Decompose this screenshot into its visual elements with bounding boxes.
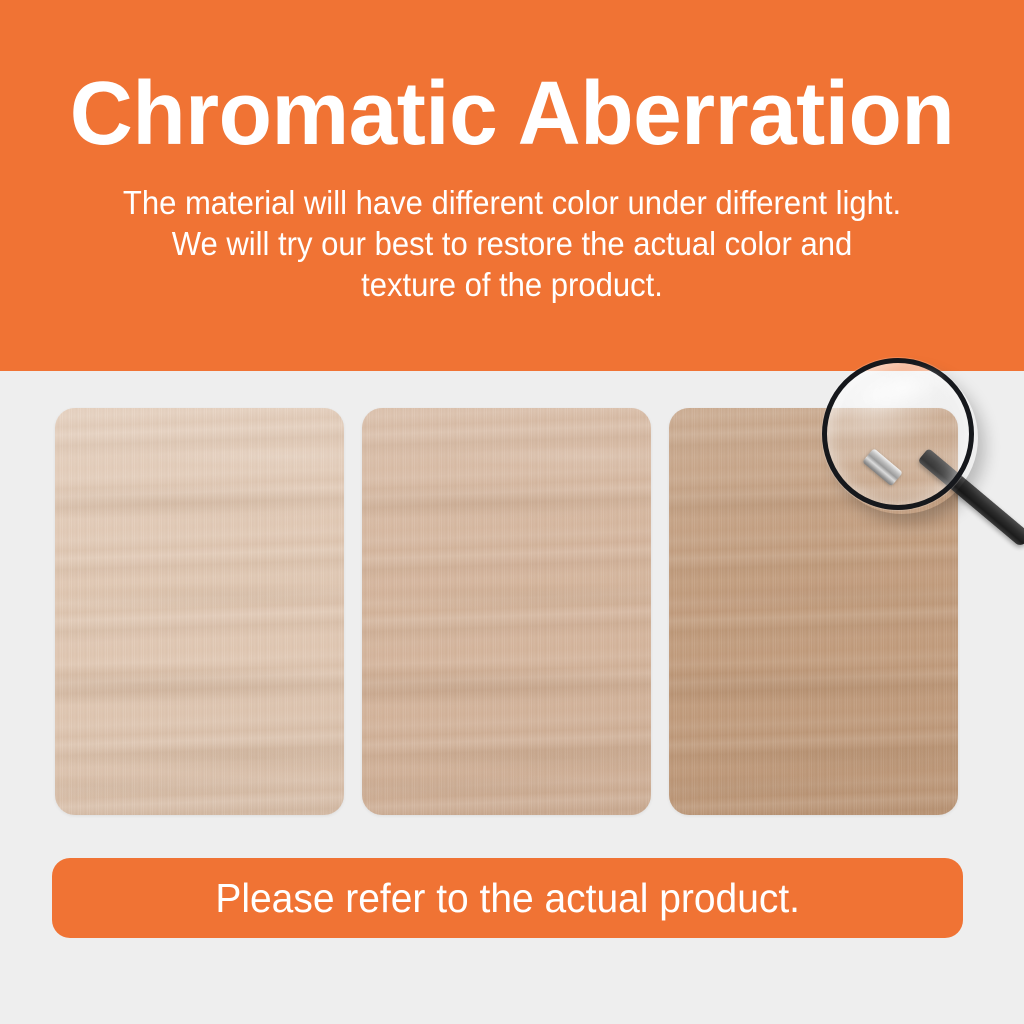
subtitle-line-1: The material will have different color u… (31, 182, 994, 223)
footer-banner: Please refer to the actual product. (52, 858, 963, 938)
header-banner: Chromatic Aberration The material will h… (0, 0, 1024, 371)
wood-sheen-overlay (55, 408, 344, 815)
header-subtitle: The material will have different color u… (31, 182, 994, 305)
wood-sample-panel-dark (669, 408, 958, 815)
wood-sample-panel-light (55, 408, 344, 815)
chromatic-aberration-infographic: Chromatic Aberration The material will h… (0, 0, 1024, 1024)
subtitle-line-2: We will try our best to restore the actu… (31, 223, 994, 264)
subtitle-line-3: texture of the product. (31, 264, 994, 305)
footer-banner-text: Please refer to the actual product. (215, 878, 800, 919)
page-title: Chromatic Aberration (15, 70, 1008, 158)
wood-sheen-overlay (362, 408, 651, 815)
wood-sheen-overlay (669, 408, 958, 815)
wood-sample-panel-medium (362, 408, 651, 815)
